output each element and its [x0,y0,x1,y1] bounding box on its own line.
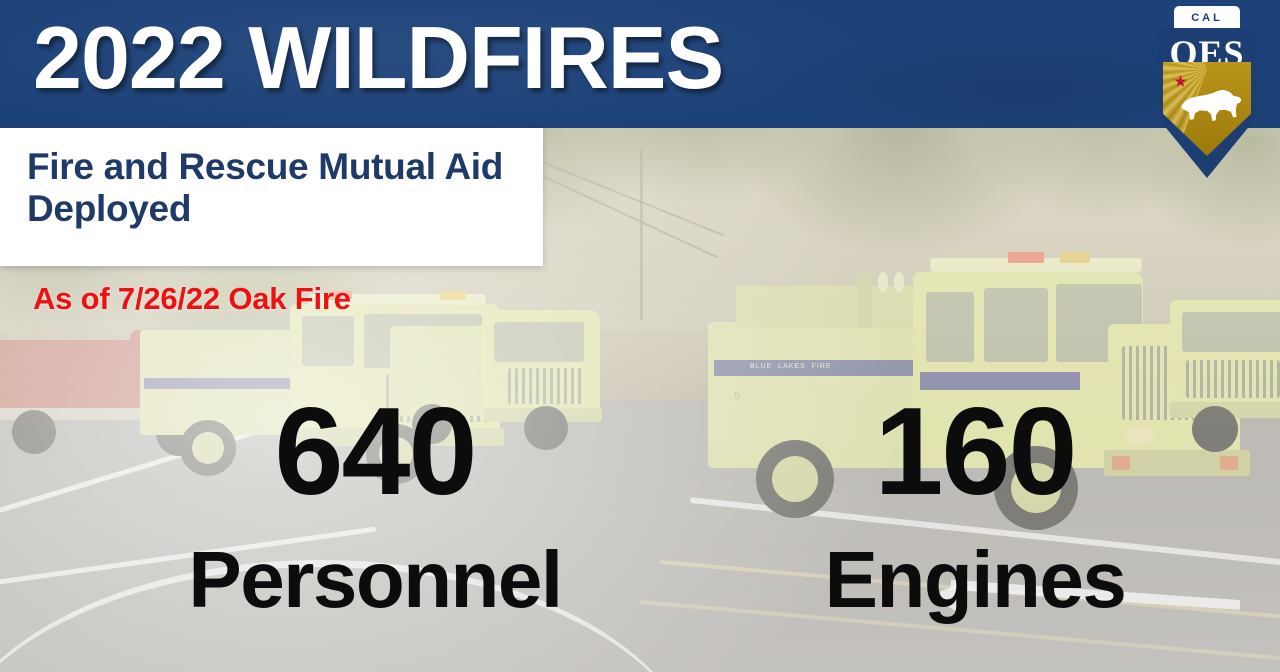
stat-personnel: 640 Personnel [120,390,630,620]
stat-engines: 160 Engines [740,390,1210,620]
subtitle-text: Fire and Rescue Mutual Aid Deployed [27,146,527,230]
stat-engines-label: Engines [740,540,1210,620]
page-title: 2022 WILDFIRES [33,14,723,102]
utility-pole [640,150,643,320]
cal-oes-logo: CAL OES [1158,6,1256,178]
stat-engines-number: 160 [740,390,1210,514]
header-band: 2022 WILDFIRES [0,0,1280,128]
as-of-date-text: As of 7/26/22 Oak Fire [33,281,351,317]
wildfire-infographic-poster: BLUE LAKES FIRE 5 [0,0,1280,672]
logo-tab-label: CAL [1174,12,1240,24]
stat-personnel-label: Personnel [120,540,630,620]
stat-personnel-number: 640 [120,390,630,514]
subtitle-box: Fire and Rescue Mutual Aid Deployed [0,128,543,266]
